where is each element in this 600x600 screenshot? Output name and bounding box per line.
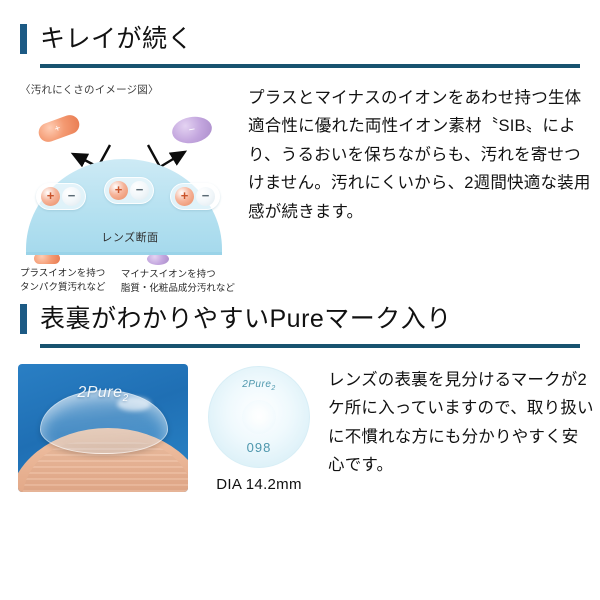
section-header-kirei: キレイが続く (0, 18, 600, 68)
legend-line-1: マイナスイオンを持つ (121, 268, 240, 282)
accent-bar-icon (20, 304, 27, 334)
section-pure-mark: 表裏がわかりやすいPureマーク入り 2Pure2 2Pure2 098 DIA… (0, 298, 600, 493)
section-pure-mark-description: レンズの表裏を見分けるマークが2ケ所に入っていますので、取り扱いに不慣れな方にも… (318, 364, 600, 493)
plus-ion-icon: + (175, 187, 194, 206)
lens-disc-diagram: 2Pure2 098 (208, 366, 310, 468)
section-pure-mark-body: 2Pure2 2Pure2 098 DIA 14.2mm レンズの表裏を見分ける… (0, 364, 600, 493)
lens-on-fingertip-photo: 2Pure2 (18, 364, 188, 492)
lens-mark-text: 2Pure (77, 384, 122, 401)
diameter-label: DIA 14.2mm (200, 476, 318, 493)
lens-cross-section-label: レンズ断面 (20, 229, 240, 245)
section-kirei: キレイが続く 〈汚れにくさのイメージ図〉 + − (0, 18, 600, 296)
ion-pair-capsule: + − (36, 183, 86, 210)
section-title: 表裏がわかりやすいPureマーク入り (40, 307, 452, 332)
disc-mark-subscript: 2 (271, 385, 275, 392)
ion-pair-capsule: + − (104, 177, 154, 204)
legend-item-plus: プラスイオンを持つ タンパク質汚れなど (20, 253, 121, 296)
disc-top-mark: 2Pure2 (209, 379, 309, 392)
plus-ion-icon: + (41, 187, 60, 206)
figure-caption: 〈汚れにくさのイメージ図〉 (20, 82, 240, 97)
section-title: キレイが続く (40, 27, 193, 52)
lens-mark-subscript: 2 (123, 393, 129, 404)
section-kirei-body: 〈汚れにくさのイメージ図〉 + − + − (0, 82, 600, 296)
plus-ion-icon: + (109, 181, 128, 200)
soil-resistance-figure: 〈汚れにくさのイメージ図〉 + − + − (20, 82, 240, 296)
minus-ion-icon: − (196, 187, 215, 206)
section-kirei-description: プラスとマイナスのイオンをあわせ持つ生体適合性に優れた両性イオン素材〝SIB〟に… (240, 82, 600, 296)
legend-line-1: プラスイオンを持つ (20, 267, 121, 281)
header-row: キレイが続く (20, 18, 600, 60)
header-divider (40, 64, 580, 68)
legend-line-2: 脂質・化粧品成分汚れなど (121, 282, 240, 296)
disc-mark-text: 2Pure (242, 379, 271, 390)
figure-legend: プラスイオンを持つ タンパク質汚れなど マイナスイオンを持つ 脂質・化粧品成分汚… (20, 253, 240, 296)
accent-bar-icon (20, 24, 27, 54)
ion-diagram: + − + − + (20, 101, 240, 251)
header-row: 表裏がわかりやすいPureマーク入り (20, 298, 600, 340)
ion-pair-capsule: + − (170, 183, 220, 210)
legend-item-minus: マイナスイオンを持つ 脂質・化粧品成分汚れなど (121, 253, 240, 296)
minus-ion-icon: − (130, 181, 149, 200)
minus-ion-icon: − (62, 187, 81, 206)
header-divider (40, 344, 580, 348)
section-header-pure-mark: 表裏がわかりやすいPureマーク入り (0, 298, 600, 348)
disc-bottom-mark: 098 (209, 440, 309, 455)
lens-pure-mark-label: 2Pure2 (18, 384, 188, 404)
legend-line-2: タンパク質汚れなど (20, 281, 121, 295)
lens-diagram-panel: 2Pure2 098 DIA 14.2mm (200, 364, 318, 493)
